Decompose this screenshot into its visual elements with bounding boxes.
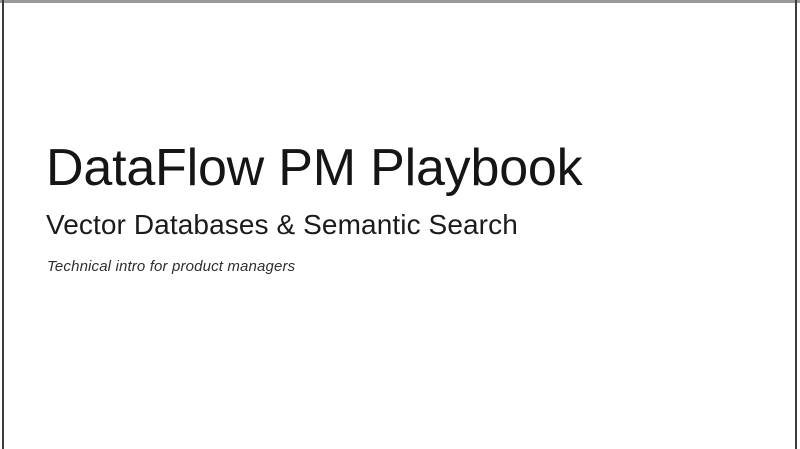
slide-right-rule [795, 0, 797, 449]
slide-title: DataFlow PM Playbook [46, 140, 746, 196]
presentation-slide: DataFlow PM Playbook Vector Databases & … [0, 0, 800, 449]
title-block: DataFlow PM Playbook Vector Databases & … [46, 140, 746, 276]
slide-subtitle: Vector Databases & Semantic Search [46, 210, 746, 241]
slide-left-rule [2, 0, 4, 449]
slide-tagline: Technical intro for product managers [47, 258, 746, 276]
slide-top-rule [0, 0, 800, 3]
